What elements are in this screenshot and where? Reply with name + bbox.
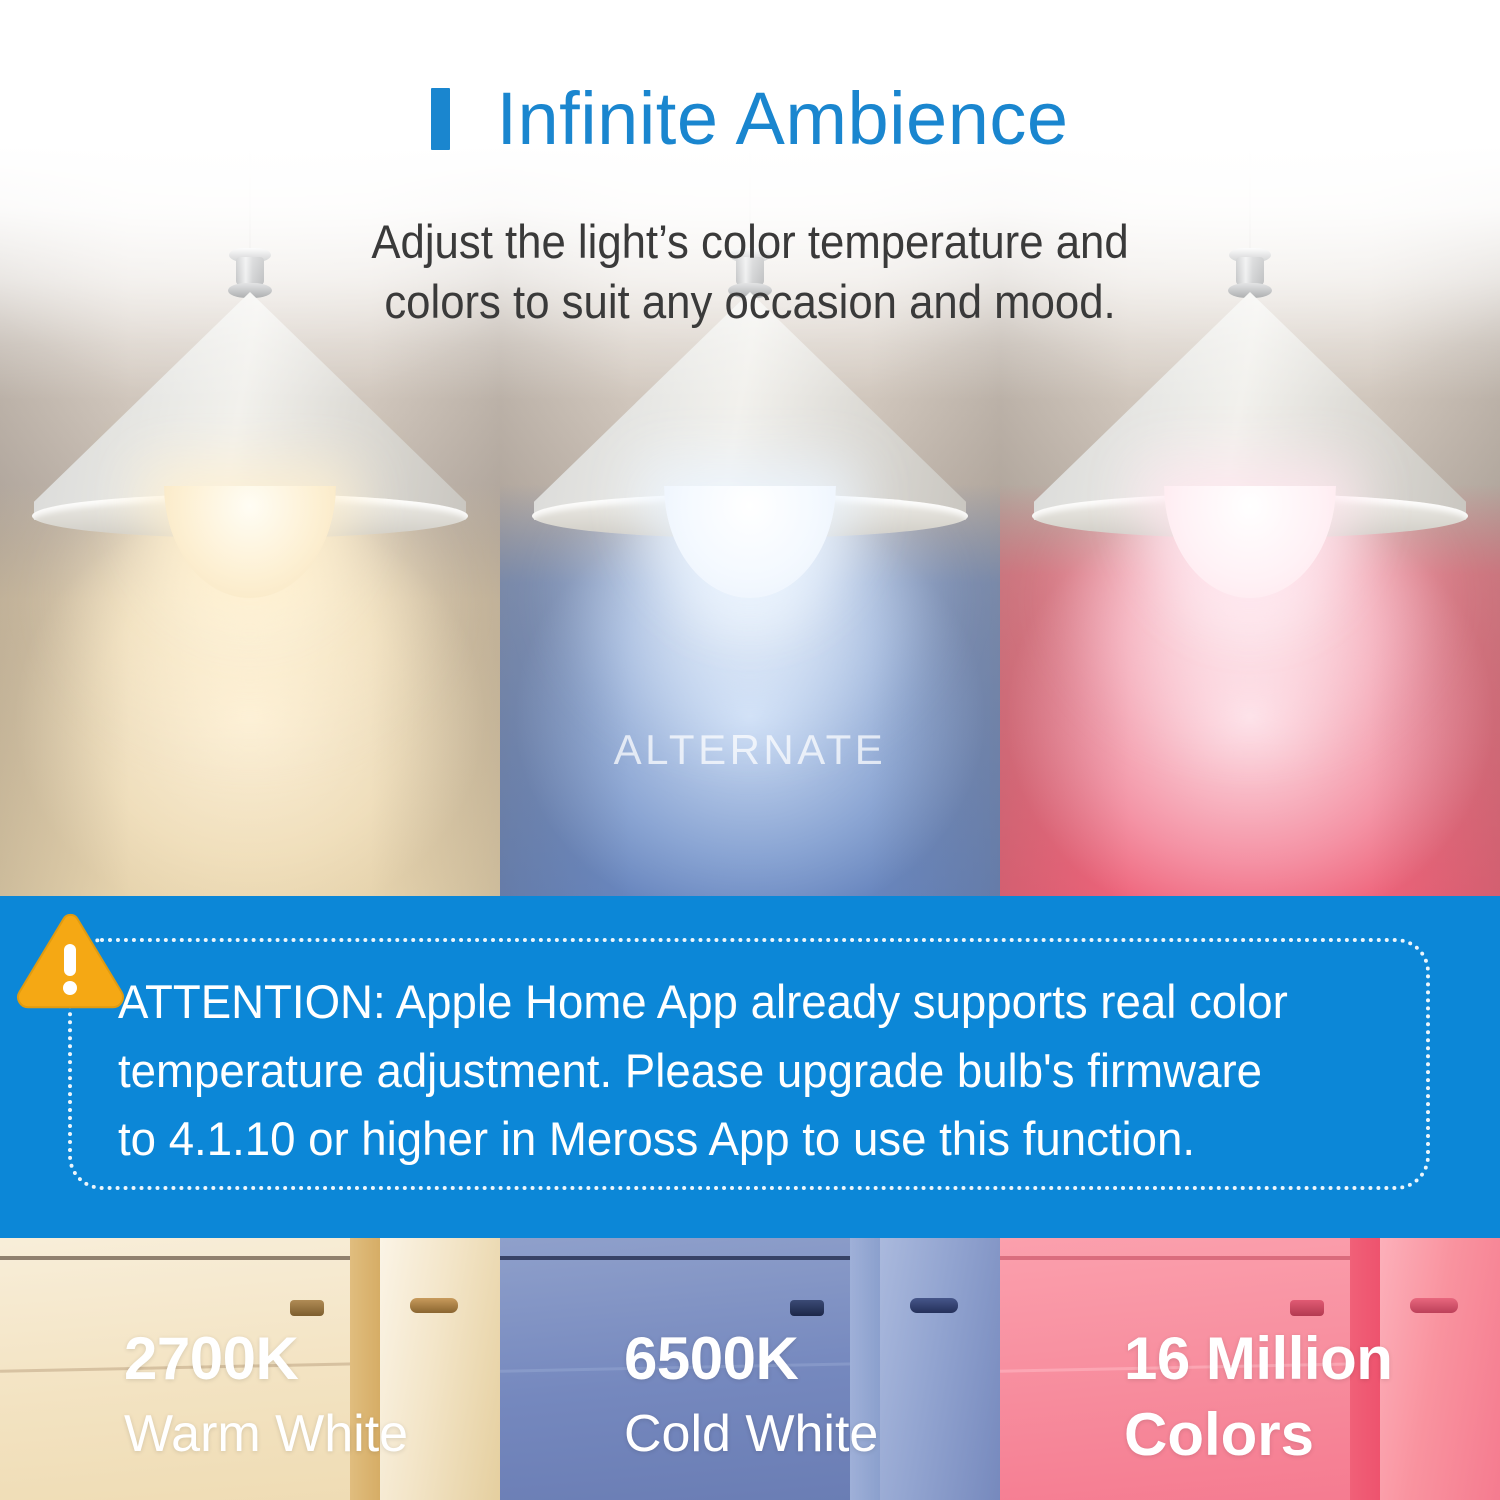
spec-label-group: 2700K Warm White bbox=[0, 1238, 500, 1500]
alternate-watermark: ALTERNATE bbox=[500, 726, 1000, 774]
mount-body bbox=[736, 257, 764, 285]
ceiling-mount bbox=[229, 248, 271, 298]
lamp-photo-strip: ALTERNATE bbox=[0, 0, 1500, 896]
attention-banner: ATTENTION: Apple Home App already suppor… bbox=[0, 896, 1500, 1238]
spec-kelvin: 16 Million bbox=[1124, 1324, 1392, 1393]
mount-body bbox=[1236, 257, 1264, 285]
spec-name: Warm White bbox=[124, 1404, 408, 1464]
attention-line-2: temperature adjustment. Please upgrade b… bbox=[118, 1037, 1379, 1106]
lamp-panel-warm-white bbox=[0, 0, 500, 896]
lamp-panel-cold-white: ALTERNATE bbox=[500, 0, 1000, 896]
spec-name: Cold White bbox=[624, 1404, 878, 1464]
mount-body bbox=[236, 257, 264, 285]
attention-text: ATTENTION: Apple Home App already suppor… bbox=[118, 968, 1379, 1174]
ceiling-mount bbox=[1229, 248, 1271, 298]
warning-triangle-icon bbox=[14, 910, 126, 1010]
attention-line-1: ATTENTION: Apple Home App already suppor… bbox=[118, 968, 1379, 1037]
spec-label-group: 16 Million Colors bbox=[1000, 1238, 1500, 1500]
color-spec-strip: 2700K Warm White 6500K Cold White bbox=[0, 1238, 1500, 1500]
attention-line-3: to 4.1.10 or higher in Meross App to use… bbox=[118, 1105, 1379, 1174]
spec-panel-cold-white: 6500K Cold White bbox=[500, 1238, 1000, 1500]
ceiling-mount bbox=[729, 248, 771, 298]
lamp-panel-colors bbox=[1000, 0, 1500, 896]
spec-label-group: 6500K Cold White bbox=[500, 1238, 1000, 1500]
spec-kelvin: 2700K bbox=[124, 1324, 298, 1393]
spec-name: Colors bbox=[1124, 1400, 1314, 1469]
spec-panel-colors: 16 Million Colors bbox=[1000, 1238, 1500, 1500]
product-feature-image: ALTERNATE Infini bbox=[0, 0, 1500, 1500]
spec-panel-warm-white: 2700K Warm White bbox=[0, 1238, 500, 1500]
spec-kelvin: 6500K bbox=[624, 1324, 798, 1393]
